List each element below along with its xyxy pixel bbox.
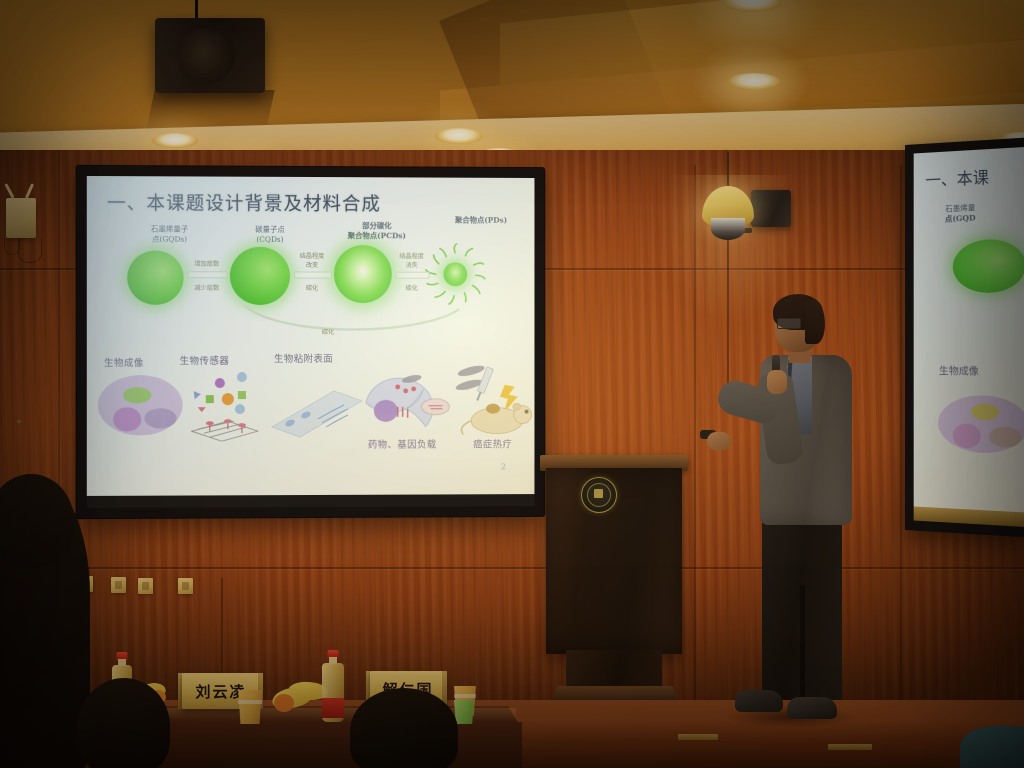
- arrow-bar-icon: [188, 271, 228, 278]
- dome-camera-icon: [711, 218, 745, 240]
- projection-screen[interactable]: 一、本课题设计背景及材料合成 石墨烯量子 点(GQDs) 碳量子点 (CQDs)…: [77, 166, 545, 518]
- crest-center-icon: [594, 489, 603, 498]
- pcds-particle-icon: [334, 245, 392, 303]
- glasses-icon: [777, 318, 801, 329]
- cup-band: [454, 694, 476, 698]
- status-led-icon: [17, 420, 21, 423]
- presenter-mic-hand: [767, 370, 787, 394]
- wall-vertical-seam: [900, 165, 902, 705]
- arrow-crystallinity-loss: 结晶程度 消失 碳化: [396, 269, 428, 281]
- node-label-pds: 聚合物点(PDs): [432, 215, 531, 225]
- cup-band: [238, 700, 262, 704]
- lecture-hall-photo: 一、本课题设计背景及材料合成 石墨烯量子 点(GQDs) 碳量子点 (CQDs)…: [0, 0, 1024, 768]
- wall-seam: [0, 567, 1024, 569]
- screen-bottom-edge: [87, 494, 535, 508]
- presenter-hair-back: [805, 300, 825, 344]
- speaker-bracket: [195, 0, 198, 20]
- arrow-crystallinity-change: 结晶程度 改变 碳化: [294, 269, 330, 281]
- side-app-label: 生物成像: [939, 362, 979, 378]
- head-table-front: [118, 722, 522, 768]
- side-slide-surface: 一、本课 石墨烯量 点(GQD 生物成像: [914, 147, 1024, 513]
- cqds-particle-icon: [230, 247, 290, 305]
- node-label-gqds: 石墨烯量子 点(GQDs): [127, 224, 212, 244]
- paper-cup-icon: [236, 690, 264, 724]
- audience-head: [78, 678, 170, 768]
- ceiling-speaker-icon: [155, 18, 265, 93]
- slide-surface: 一、本课题设计背景及材料合成 石墨烯量子 点(GQDs) 碳量子点 (CQDs)…: [87, 176, 535, 496]
- water-bottle-icon: [322, 650, 344, 722]
- wall-speaker-icon: [751, 190, 791, 227]
- bio-imaging-cell-icon: [97, 373, 184, 437]
- wall-vertical-seam: [694, 165, 696, 705]
- cable: [18, 238, 42, 263]
- presenter-leg-split: [800, 585, 805, 700]
- wall-socket-plate: [138, 578, 153, 594]
- side-projection-screen[interactable]: 一、本课 石墨烯量 点(GQD 生物成像: [905, 137, 1024, 537]
- biosensor-array-icon: [184, 369, 264, 441]
- camera-wire: [727, 240, 729, 400]
- app-label-thermotherapy: 癌症热疗: [473, 436, 512, 450]
- wifi-access-point-icon: [6, 198, 36, 238]
- side-node-label: 石墨烯量 点(GQD: [945, 203, 976, 225]
- socket-slot-icon: [142, 582, 149, 590]
- pds-particle-icon: [424, 243, 487, 305]
- slide-page-number: 2: [501, 462, 506, 471]
- arrow-layers: 增加层数 减少层数: [188, 269, 226, 281]
- audience-shoulder: [960, 726, 1024, 768]
- bio-adhesive-surface-icon: [266, 383, 366, 439]
- pds-core-icon: [443, 262, 467, 286]
- slide-title: 一、本课题设计背景及材料合成: [107, 189, 381, 216]
- app-label-biosensor: 生物传感器: [180, 353, 230, 367]
- side-particle-icon: [953, 238, 1024, 293]
- downlight-icon: [152, 133, 198, 148]
- floor-brass-strip: [678, 734, 718, 740]
- side-bio-imaging-cell-icon: [937, 393, 1024, 459]
- arrow-bar-icon: [396, 272, 430, 279]
- gqds-particle-icon: [127, 251, 183, 305]
- arrow-bar-icon: [294, 271, 332, 278]
- side-slide-title: 一、本课: [925, 163, 989, 191]
- audience-head: [350, 688, 458, 768]
- drug-gene-delivery-icon: [362, 367, 453, 439]
- loop-arrow-label: 碳化: [298, 327, 358, 336]
- app-label-bio-imaging: 生物成像: [104, 355, 144, 369]
- node-label-cqds: 碳量子点 (CQDs): [228, 225, 312, 244]
- lamp-cord: [727, 152, 729, 188]
- orange-icon: [274, 694, 294, 712]
- app-label-bio-adhesive: 生物粘附表面: [274, 351, 333, 365]
- speaker-cone-icon: [177, 28, 235, 84]
- socket-slot-icon: [115, 581, 122, 589]
- downlight-icon: [728, 73, 780, 90]
- wall-socket-plate: [111, 577, 126, 593]
- presenter-right-shoe: [787, 697, 837, 719]
- bottle-label: [322, 698, 344, 718]
- cancer-thermotherapy-mouse-icon: [451, 363, 534, 439]
- downlight-icon: [435, 128, 483, 144]
- floor-brass-strip: [828, 744, 872, 750]
- presenter-left-shoe: [735, 690, 783, 712]
- node-label-pcds: 部分碳化 聚合物点(PCDs): [324, 221, 430, 240]
- presenter-free-hand: [707, 432, 731, 450]
- podium-column: [566, 650, 662, 690]
